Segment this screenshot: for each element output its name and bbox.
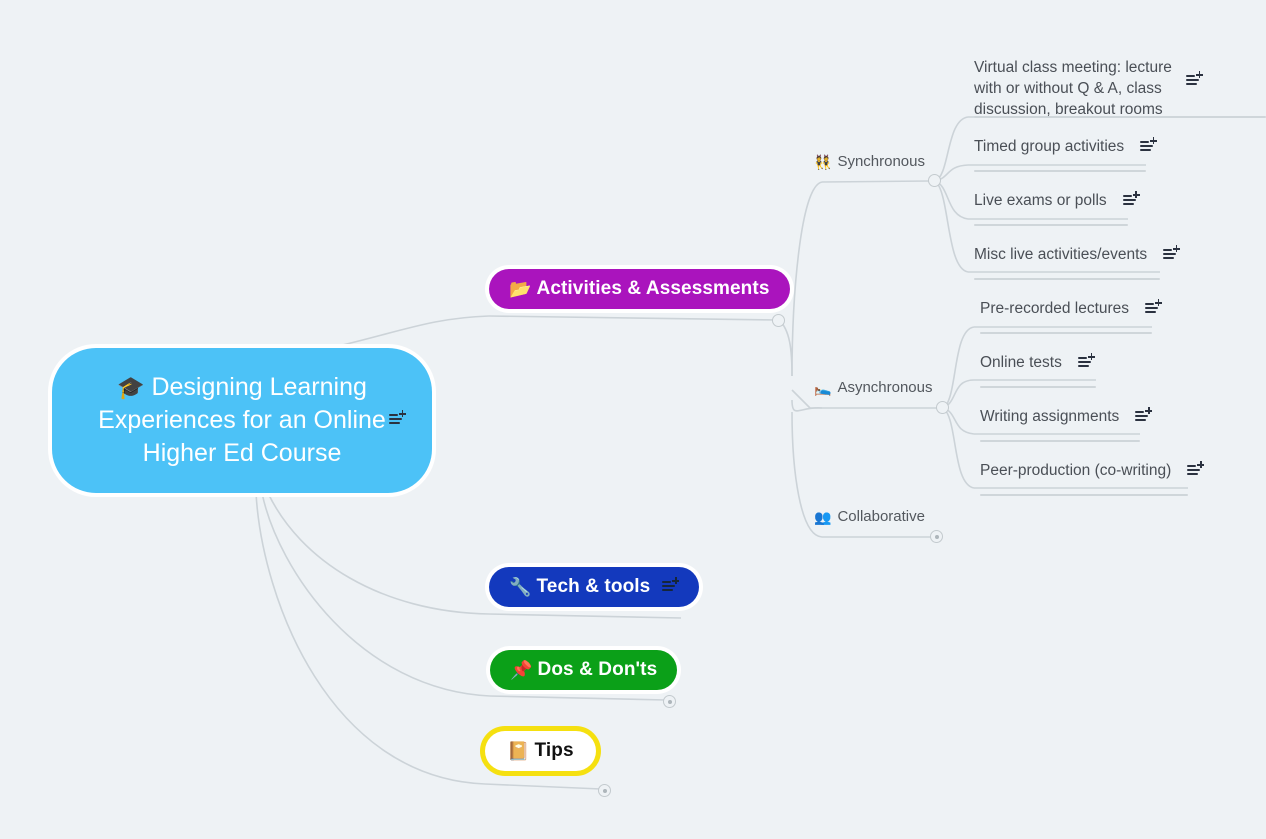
- branch-tech-tools[interactable]: 🔧 Tech & tools: [489, 567, 699, 607]
- mindmap-canvas[interactable]: 🎓 Designing Learning Experiences for an …: [0, 0, 1266, 839]
- leaf-online-tests-label: Online tests: [980, 354, 1062, 372]
- leaf-peer-production[interactable]: Peer-production (co-writing): [980, 462, 1204, 480]
- leaf-underline: [974, 224, 1128, 226]
- branch-activities-assessments[interactable]: 📂 Activities & Assessments: [489, 269, 790, 309]
- junction-asynchronous[interactable]: [936, 401, 949, 414]
- pushpin-icon: 📌: [510, 661, 533, 679]
- branch-dos-donts[interactable]: 📌 Dos & Don'ts: [490, 650, 677, 690]
- wrench-icon: 🔧: [509, 578, 532, 596]
- branch-tips-label: Tips: [535, 740, 574, 762]
- branch-dos-donts-label: Dos & Don'ts: [538, 659, 658, 681]
- leaf-online-tests[interactable]: Online tests: [980, 354, 1095, 372]
- notebook-icon: 📔: [507, 742, 530, 760]
- branch-tips[interactable]: 📔 Tips: [485, 731, 596, 771]
- collapse-toggle-tips[interactable]: [598, 784, 611, 797]
- leaf-writing-assignments-label: Writing assignments: [980, 408, 1119, 426]
- leaf-pre-recorded-lectures-label: Pre-recorded lectures: [980, 300, 1129, 318]
- leaf-writing-assignments[interactable]: Writing assignments: [980, 408, 1152, 426]
- leaf-timed-group-activities[interactable]: Timed group activities: [974, 138, 1157, 156]
- leaf-underline: [980, 494, 1188, 496]
- leaf-underline: [980, 386, 1096, 388]
- branch-tech-tools-label: Tech & tools: [537, 576, 651, 598]
- graduation-cap-icon: 🎓: [117, 375, 144, 400]
- root-node-label: 🎓 Designing Learning Experiences for an …: [92, 371, 392, 469]
- add-note-icon[interactable]: [389, 413, 406, 427]
- add-note-icon[interactable]: [1078, 356, 1095, 370]
- junction-synchronous[interactable]: [928, 174, 941, 187]
- people-dancing-icon: 👯: [814, 155, 831, 169]
- root-node[interactable]: 🎓 Designing Learning Experiences for an …: [52, 348, 432, 493]
- leaf-underline: [980, 332, 1152, 334]
- leaf-virtual-class-meeting-label: Virtual class meeting: lecture with or w…: [974, 57, 1178, 120]
- busts-in-silhouette-icon: 👥: [814, 510, 831, 524]
- leaf-misc-live-activities[interactable]: Misc live activities/events: [974, 246, 1180, 264]
- leaf-underline: [980, 440, 1140, 442]
- add-note-icon[interactable]: [1187, 464, 1204, 478]
- junction-activities[interactable]: [772, 314, 785, 327]
- subbranch-asynchronous-label: Asynchronous: [837, 379, 932, 396]
- leaf-peer-production-label: Peer-production (co-writing): [980, 462, 1171, 480]
- subbranch-collaborative[interactable]: 👥 Collaborative: [814, 508, 925, 525]
- leaf-underline: [974, 170, 1146, 172]
- folder-icon: 📂: [509, 280, 532, 298]
- person-in-bed-icon: 🛌: [814, 381, 831, 395]
- add-note-icon[interactable]: [1123, 194, 1140, 208]
- leaf-underline: [974, 116, 1266, 118]
- add-note-icon[interactable]: [1145, 302, 1162, 316]
- leaf-misc-live-activities-label: Misc live activities/events: [974, 246, 1147, 264]
- collapse-toggle-collaborative[interactable]: [930, 530, 943, 543]
- branch-activities-label: Activities & Assessments: [537, 278, 770, 300]
- subbranch-collaborative-label: Collaborative: [837, 508, 925, 525]
- collapse-toggle-dos-donts[interactable]: [663, 695, 676, 708]
- leaf-underline: [974, 278, 1160, 280]
- add-note-icon[interactable]: [1140, 140, 1157, 154]
- add-note-icon[interactable]: [662, 580, 679, 594]
- add-note-icon[interactable]: [1135, 410, 1152, 424]
- subbranch-synchronous[interactable]: 👯 Synchronous: [814, 153, 925, 170]
- add-note-icon[interactable]: [1186, 74, 1203, 88]
- leaf-live-exams-or-polls[interactable]: Live exams or polls: [974, 192, 1140, 210]
- leaf-timed-group-activities-label: Timed group activities: [974, 138, 1124, 156]
- add-note-icon[interactable]: [1163, 248, 1180, 262]
- subbranch-asynchronous[interactable]: 🛌 Asynchronous: [814, 379, 933, 396]
- leaf-pre-recorded-lectures[interactable]: Pre-recorded lectures: [980, 300, 1162, 318]
- leaf-live-exams-or-polls-label: Live exams or polls: [974, 192, 1107, 210]
- leaf-virtual-class-meeting[interactable]: Virtual class meeting: lecture with or w…: [974, 57, 1178, 120]
- subbranch-synchronous-label: Synchronous: [837, 153, 925, 170]
